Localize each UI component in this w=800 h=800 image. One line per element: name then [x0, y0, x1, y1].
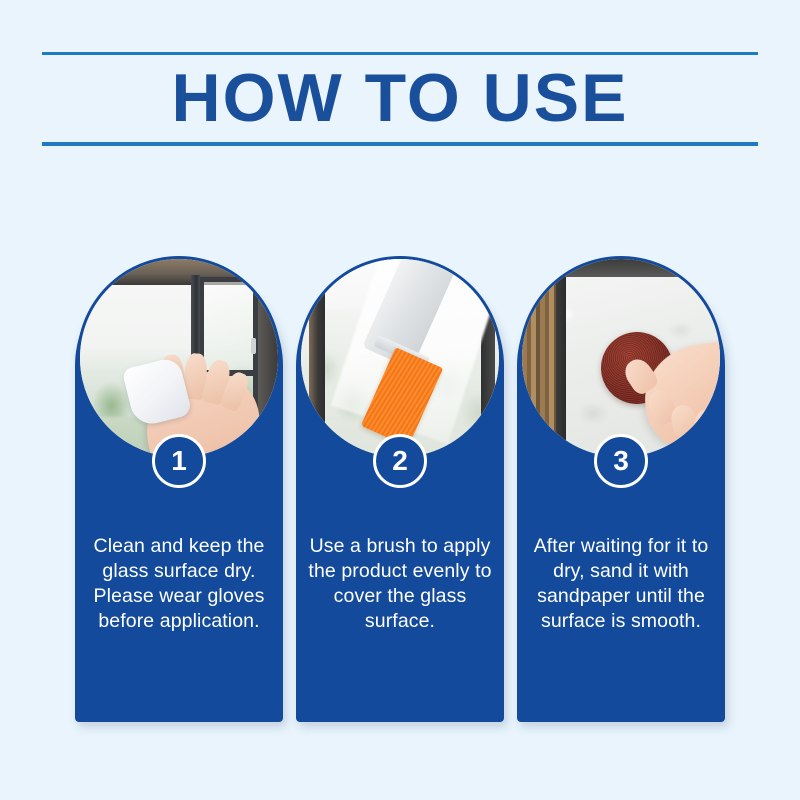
- brush-application-photo: [301, 259, 499, 457]
- step-card-1[interactable]: 1 Clean and keep the glass surface dry. …: [75, 262, 283, 722]
- step-2-photo-frame: [298, 256, 502, 460]
- step-3-photo-frame: [519, 256, 723, 460]
- step-caption-3: After waiting for it to dry, sand it wit…: [527, 534, 715, 634]
- title-rule-top: [42, 52, 758, 55]
- steps-container: 1 Clean and keep the glass surface dry. …: [75, 262, 725, 727]
- wooden-frame: [522, 259, 556, 457]
- step-number-badge-3: 3: [594, 434, 648, 488]
- window-handle-icon: [251, 338, 256, 354]
- step-caption-2: Use a brush to apply the product evenly …: [306, 534, 494, 634]
- header: HOW TO USE: [42, 52, 758, 146]
- sanding-photo: [522, 259, 720, 457]
- step-number-badge-1: 1: [152, 434, 206, 488]
- title-rule-bottom: [42, 142, 758, 146]
- page-title: HOW TO USE: [42, 57, 758, 140]
- finger-3: [694, 410, 718, 441]
- step-card-2[interactable]: 2 Use a brush to apply the product evenl…: [296, 262, 504, 722]
- window-frame-left: [309, 259, 325, 457]
- window-right-edge: [258, 271, 278, 457]
- step-number-badge-2: 2: [373, 434, 427, 488]
- step-card-3[interactable]: 3 After waiting for it to dry, sand it w…: [517, 262, 725, 722]
- dark-frame-strip: [556, 259, 566, 457]
- step-caption-1: Clean and keep the glass surface dry. Pl…: [85, 534, 273, 634]
- window-top-bar: [556, 259, 720, 277]
- step-1-photo-frame: [77, 256, 281, 460]
- window-cleaning-photo: [80, 259, 278, 457]
